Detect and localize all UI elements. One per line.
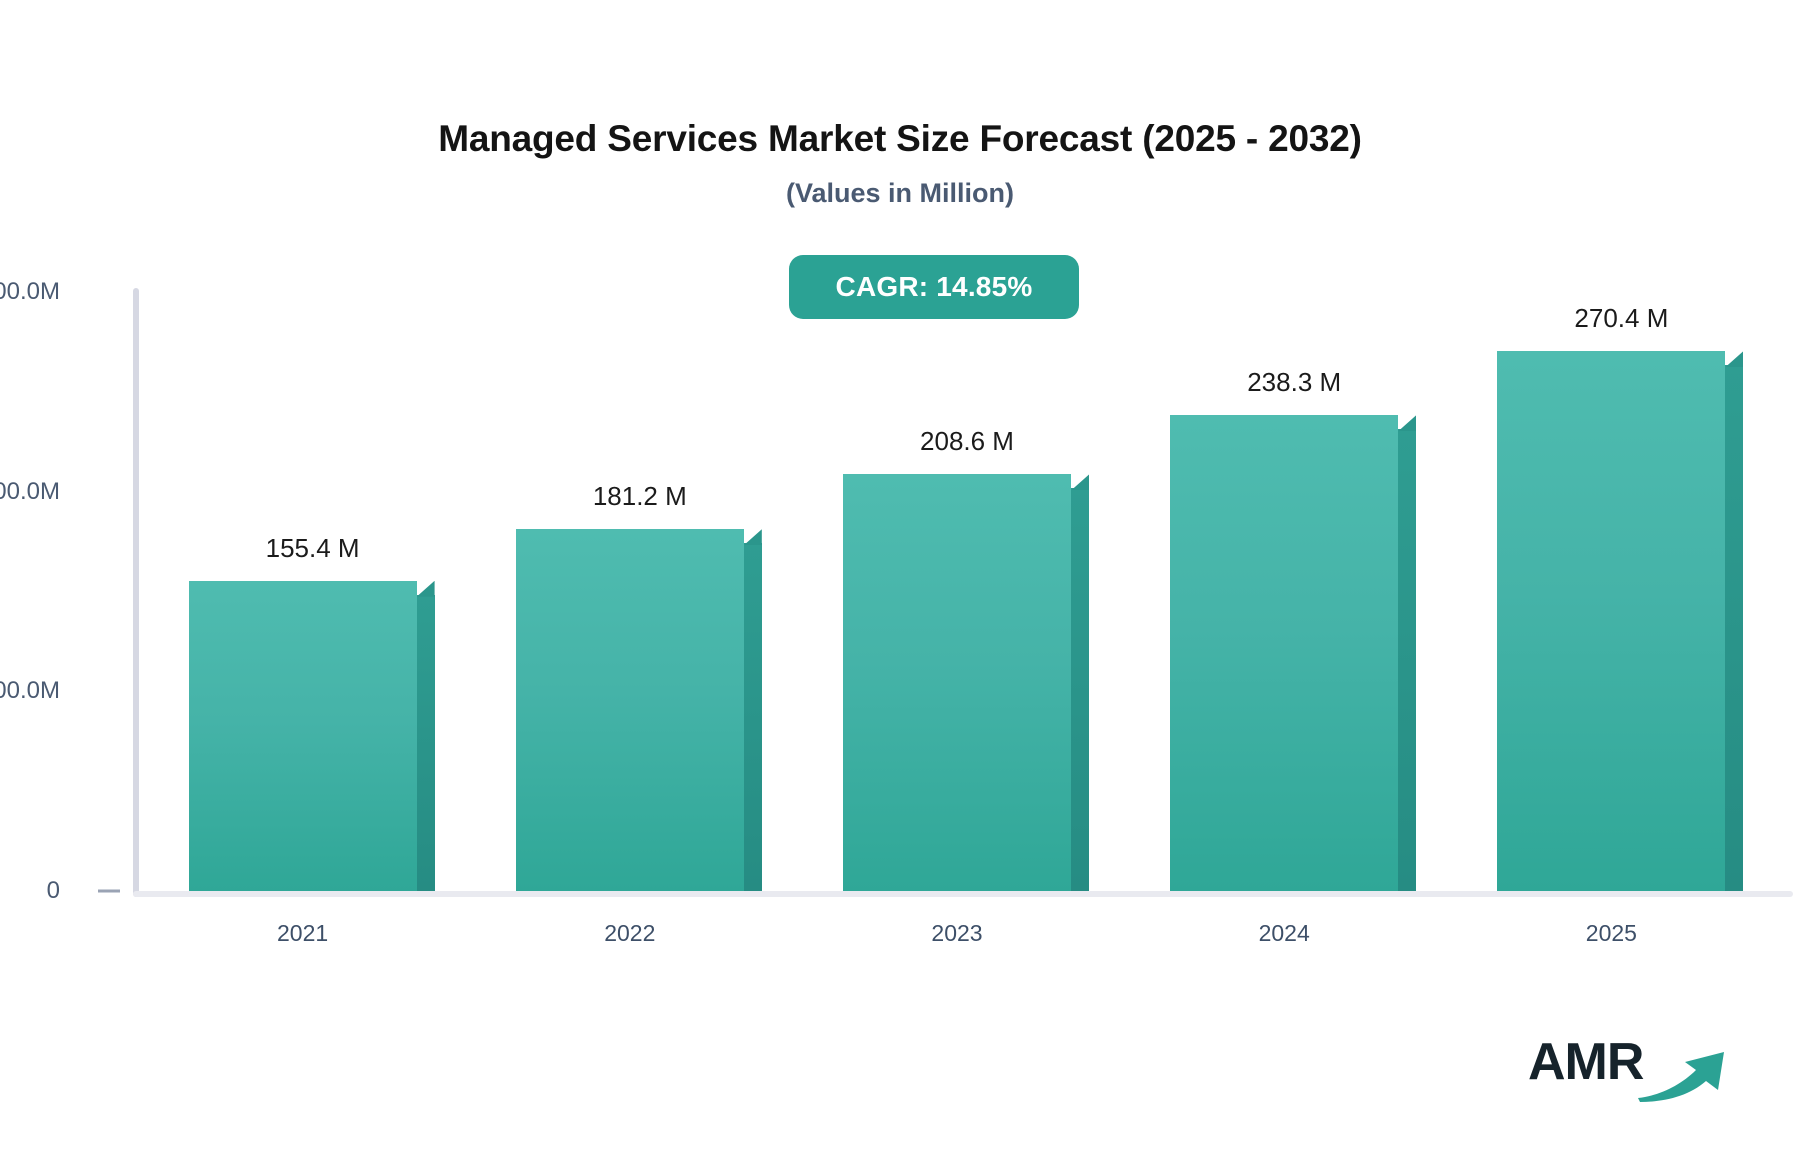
bar-2023[interactable] [843, 474, 1071, 891]
bar-front-face [189, 581, 417, 891]
y-tick-label: 100.0M [0, 677, 60, 705]
amr-logo: AMR [1528, 1036, 1728, 1106]
bar-side-face [744, 543, 762, 891]
bar-front-face [1497, 351, 1725, 891]
bar-value-label: 238.3 M [1247, 367, 1341, 398]
bar-2022[interactable] [516, 529, 744, 891]
bar-side-face [1071, 488, 1089, 891]
y-tick-label: 300.0M [0, 278, 60, 306]
bar-2025[interactable] [1497, 351, 1725, 891]
bar-front-face [1170, 415, 1398, 891]
bar-2024[interactable] [1170, 415, 1398, 891]
x-tick-label: 2025 [1586, 920, 1637, 947]
bar-front-face [843, 474, 1071, 891]
plot-area: 0100.0M200.0M300.0M 155.4 M181.2 M208.6 … [0, 0, 1800, 1156]
y-axis-line [133, 288, 139, 897]
amr-logo-text: AMR [1528, 1036, 1643, 1088]
y-tick-label: 200.0M [0, 478, 60, 506]
chart-canvas: Managed Services Market Size Forecast (2… [0, 0, 1800, 1156]
y-tick-label: 0 [47, 877, 60, 905]
growth-arrow-icon [1636, 1040, 1732, 1102]
x-tick-label: 2021 [277, 920, 328, 947]
x-tick-label: 2022 [604, 920, 655, 947]
bar-value-label: 270.4 M [1574, 303, 1668, 334]
bar-front-face [516, 529, 744, 891]
x-tick-label: 2023 [931, 920, 982, 947]
bar-side-face [417, 595, 435, 891]
bar-value-label: 155.4 M [266, 533, 360, 564]
bar-side-face [1398, 429, 1416, 891]
x-axis-line [133, 891, 1793, 897]
bar-value-label: 208.6 M [920, 426, 1014, 457]
bar-2021[interactable] [189, 581, 417, 891]
y-tick-dash [98, 890, 120, 893]
x-tick-label: 2024 [1259, 920, 1310, 947]
bar-side-face [1725, 365, 1743, 891]
bar-value-label: 181.2 M [593, 481, 687, 512]
